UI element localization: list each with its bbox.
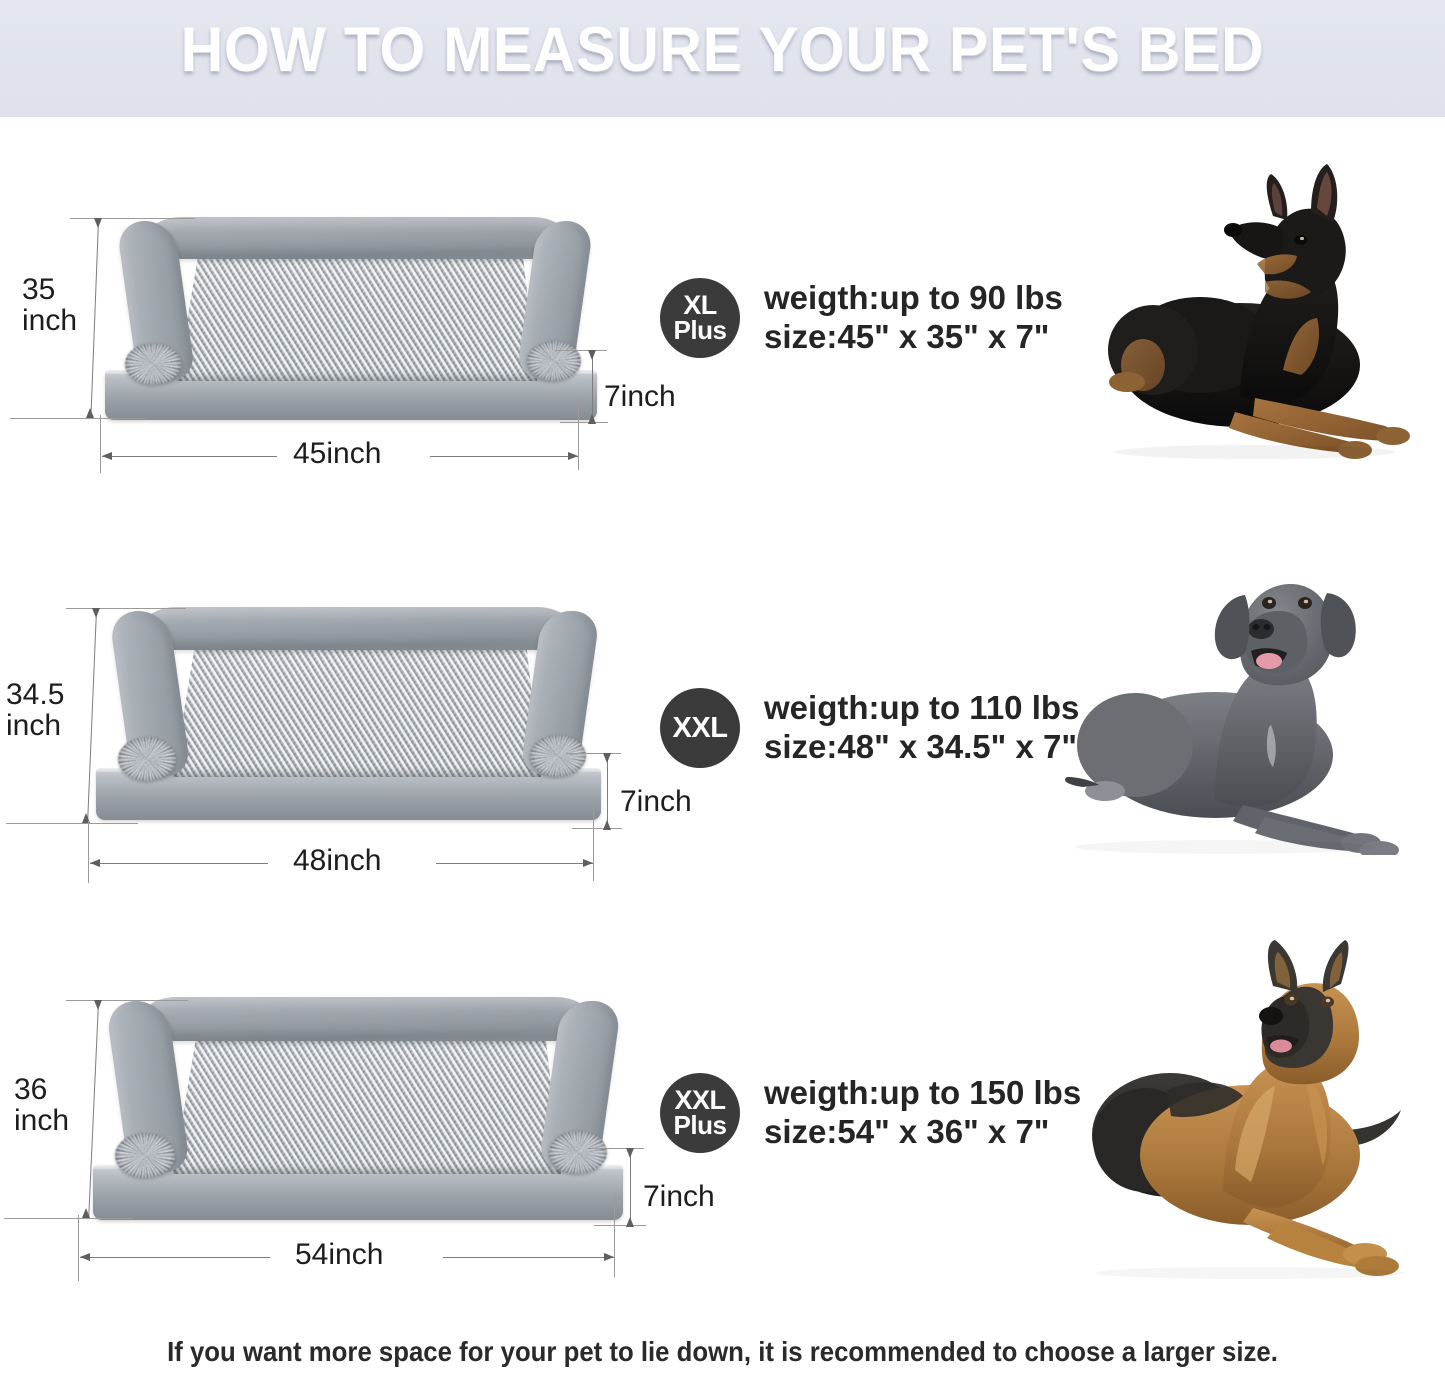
page-title: HOW TO MEASURE YOUR PET'S BED (51, 14, 1395, 86)
dim-ext-top-2 (66, 608, 186, 609)
dim-ext-h-top-3 (588, 1148, 644, 1149)
dog-photo-doberman (1105, 160, 1435, 460)
bed-right-pom-icon (530, 735, 586, 777)
size-badge-xl-plus: XL Plus (660, 278, 740, 358)
dim-height-arrow-bottom-2 (603, 820, 611, 830)
size-row-xxl-plus: 36 inch 54inch 7inch XXL Plus weigth:up … (0, 935, 1445, 1315)
dim-width-arrow-left-3 (80, 1253, 90, 1261)
dim-ext-h-top-1 (555, 350, 607, 351)
dim-width-arrow-left-1 (102, 452, 112, 460)
dim-ext-h-bot-3 (594, 1225, 646, 1226)
badge-line-1: XXL (673, 714, 728, 742)
dim-ext-top-3 (66, 1000, 188, 1001)
size-info-3: XXL Plus weigth:up to 150 lbs size:54" x… (660, 1073, 1081, 1153)
dim-depth-arrow-bottom-3 (82, 1208, 90, 1218)
dim-ext-bottom-2 (6, 823, 138, 824)
size-line-1: size:45" x 35" x 7" (764, 318, 1063, 357)
size-row-xxl: 34.5 inch 48inch 7inch XXL weigth:up to … (0, 545, 1445, 915)
weight-line-2: weigth:up to 110 lbs (764, 689, 1079, 728)
dim-width-line-left-1 (102, 456, 277, 457)
bed-back-bolster (142, 607, 572, 650)
dim-height-line-2 (607, 755, 608, 828)
bed-back-bolster (147, 217, 567, 259)
dim-ext-h-bot-2 (572, 828, 622, 829)
badge-line-2: Plus (674, 1113, 727, 1138)
dim-ext-right-v-3 (614, 1193, 615, 1277)
size-info-text-2: weigth:up to 110 lbs size:48" x 34.5" x … (764, 689, 1079, 766)
dim-height-arrow-bottom-1 (588, 414, 596, 424)
bed-right-pom-icon (549, 1131, 607, 1174)
dim-height-arrow-top-3 (626, 1148, 634, 1158)
bed-left-pom-icon (115, 1133, 175, 1178)
dim-height-line-3 (630, 1150, 631, 1225)
dim-width-line-left-3 (80, 1257, 270, 1258)
dim-width-line-right-2 (436, 863, 593, 864)
dim-width-arrow-right-3 (604, 1253, 614, 1261)
dim-width-arrow-right-1 (568, 452, 578, 460)
size-info-1: XL Plus weigth:up to 90 lbs size:45" x 3… (660, 278, 1063, 358)
size-line-2: size:48" x 34.5" x 7" (764, 728, 1079, 767)
dim-height-label-2: 7inch (620, 787, 692, 818)
dim-width-arrow-left-2 (90, 859, 100, 867)
dim-depth-arrow-bottom-1 (86, 408, 94, 418)
size-info-2: XXL weigth:up to 110 lbs size:48" x 34.5… (660, 688, 1079, 768)
dim-depth-arrow-top-1 (94, 218, 102, 228)
dim-width-line-right-3 (443, 1257, 614, 1258)
size-info-text-3: weigth:up to 150 lbs size:54" x 36" x 7" (764, 1074, 1081, 1151)
dim-height-label-3: 7inch (643, 1182, 715, 1213)
footer-note: If you want more space for your pet to l… (58, 1336, 1387, 1368)
dim-width-label-2: 48inch (293, 846, 381, 877)
weight-line-3: weigth:up to 150 lbs (764, 1074, 1081, 1113)
size-line-3: size:54" x 36" x 7" (764, 1113, 1081, 1152)
dim-ext-top-1 (70, 218, 195, 219)
dim-width-line-right-1 (430, 456, 578, 457)
dim-depth-label-1: 35 inch (22, 275, 77, 336)
dim-ext-h-bot-1 (560, 422, 608, 423)
dim-height-arrow-bottom-3 (626, 1217, 634, 1227)
dim-ext-right-v-1 (578, 398, 579, 470)
dim-depth-label-2: 34.5 inch (6, 680, 64, 741)
bed-cushion (173, 645, 541, 777)
dim-width-arrow-right-2 (583, 859, 593, 867)
size-info-text-1: weigth:up to 90 lbs size:45" x 35" x 7" (764, 279, 1063, 356)
dim-width-line-left-2 (90, 863, 268, 864)
dog-photo-great-dane (1065, 555, 1435, 855)
dim-height-label-1: 7inch (604, 382, 676, 413)
dim-width-label-3: 54inch (295, 1240, 383, 1271)
bed-back-bolster (141, 997, 591, 1041)
dim-height-arrow-top-1 (588, 350, 596, 360)
dim-height-arrow-top-2 (603, 753, 611, 763)
dim-ext-h-top-2 (566, 753, 621, 754)
dim-ext-right-v-2 (593, 803, 594, 881)
size-row-xl-plus: 35 inch 45inch 7inch XL Plus weigth:up t… (0, 150, 1445, 510)
dog-photo-german-shepherd (1075, 940, 1435, 1280)
dim-ext-left-v-2 (88, 821, 89, 883)
weight-line-1: weigth:up to 90 lbs (764, 279, 1063, 318)
doberman-illustration (1105, 160, 1435, 460)
dim-height-line-1 (592, 352, 593, 422)
bed-illustration-3 (85, 995, 630, 1245)
bed-cushion (177, 253, 537, 381)
size-badge-xxl: XXL (660, 688, 740, 768)
dim-ext-left-v-1 (100, 415, 101, 473)
german-shepherd-illustration (1075, 940, 1435, 1280)
size-badge-xxl-plus: XXL Plus (660, 1073, 740, 1153)
badge-line-2: Plus (674, 318, 727, 343)
bed-illustration-2 (88, 605, 608, 845)
dim-depth-label-3: 36 inch (14, 1075, 69, 1136)
bed-left-pom-icon (118, 737, 176, 781)
bed-cushion (173, 1037, 561, 1174)
dim-ext-bottom-1 (10, 418, 145, 419)
great-dane-illustration (1065, 555, 1435, 855)
dim-width-label-1: 45inch (293, 439, 381, 470)
dim-depth-arrow-top-2 (92, 608, 100, 618)
dim-depth-arrow-top-3 (94, 1000, 102, 1010)
bed-left-pom-icon (125, 343, 181, 385)
bed-right-pom-icon (527, 341, 581, 381)
dim-ext-bottom-3 (4, 1218, 134, 1219)
bed-illustration-1 (95, 215, 605, 445)
dim-ext-left-v-3 (78, 1215, 79, 1281)
